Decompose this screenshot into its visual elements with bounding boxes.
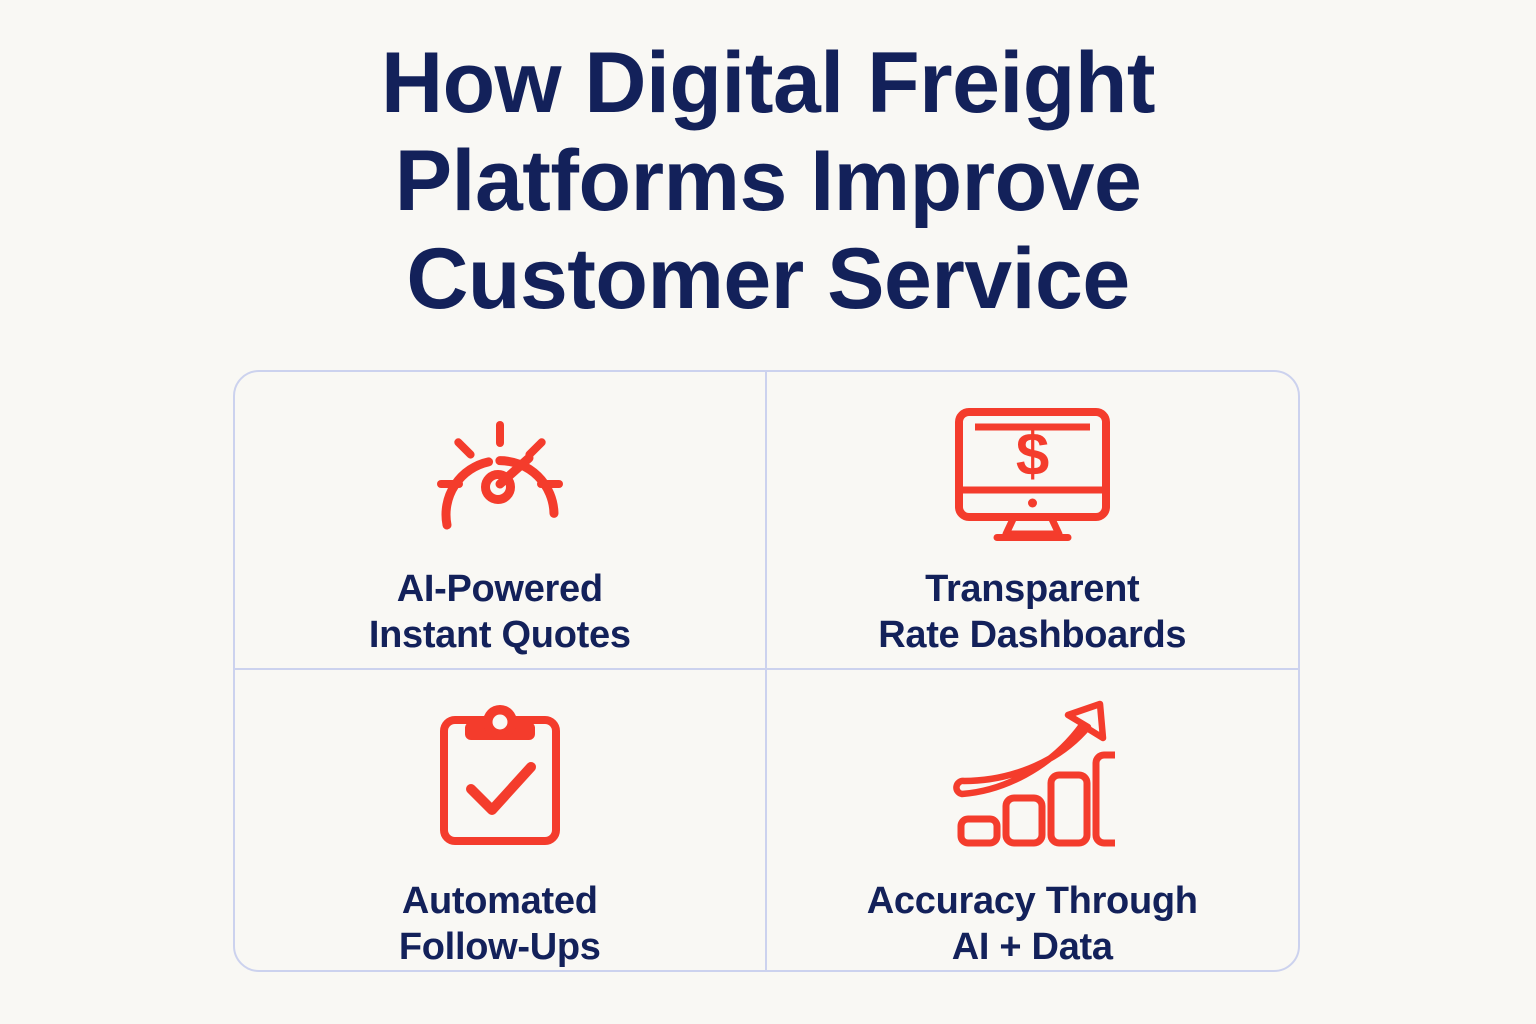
benefits-card: AI-Powered Instant Quotes $ (233, 370, 1300, 972)
card-cell-label-line-2: Rate Dashboards (878, 612, 1186, 658)
card-cell-label: Accuracy Through AI + Data (867, 878, 1198, 970)
page-title-line-2: Platforms Improve (268, 132, 1268, 230)
infographic-canvas: How Digital Freight Platforms Improve Cu… (0, 0, 1536, 1024)
card-cell-label: Transparent Rate Dashboards (878, 566, 1186, 658)
card-cell-label: AI-Powered Instant Quotes (369, 566, 631, 658)
monitor-dollar-icon: $ (950, 398, 1115, 548)
card-cell-label-line-1: Accuracy Through (867, 878, 1198, 924)
card-cell-accuracy-through-ai-data: Accuracy Through AI + Data (767, 670, 1299, 970)
page-title-line-1: How Digital Freight (268, 34, 1268, 132)
card-cell-automated-follow-ups: Automated Follow-Ups (235, 670, 767, 970)
clipboard-check-icon (435, 696, 565, 854)
growth-bar-chart-arrow-icon (950, 696, 1115, 854)
svg-text:$: $ (1016, 421, 1049, 488)
card-cell-label: Automated Follow-Ups (399, 878, 601, 970)
speedometer-gauge-icon (425, 398, 575, 548)
card-cell-label-line-1: Transparent (878, 566, 1186, 612)
card-cell-label-line-1: Automated (399, 878, 601, 924)
page-title-line-3: Customer Service (268, 230, 1268, 328)
card-cell-transparent-rate-dashboards: $ Transparent Rate Dashboards (767, 372, 1299, 670)
page-title: How Digital Freight Platforms Improve Cu… (268, 34, 1268, 328)
card-cell-label-line-1: AI-Powered (369, 566, 631, 612)
card-cell-ai-powered-instant-quotes: AI-Powered Instant Quotes (235, 372, 767, 670)
card-cell-label-line-2: Instant Quotes (369, 612, 631, 658)
card-cell-label-line-2: Follow-Ups (399, 924, 601, 970)
card-cell-label-line-2: AI + Data (867, 924, 1198, 970)
